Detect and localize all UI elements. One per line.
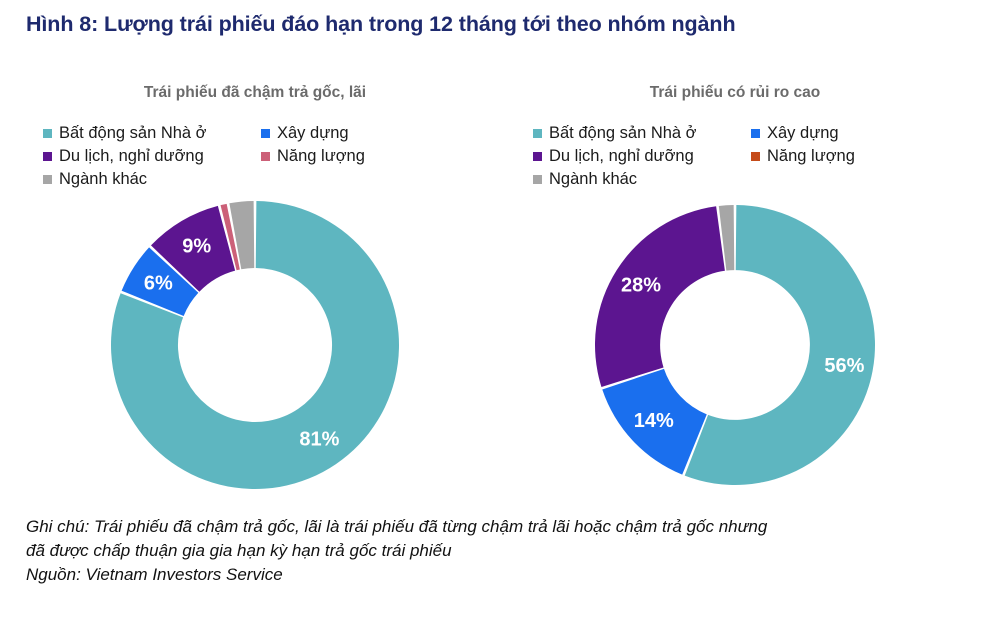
legend-label: Xây dựng [277,125,349,142]
legend-item-energy[interactable]: Năng lượng [261,148,365,165]
legend-swatch-icon [751,152,760,161]
legend-item-construction[interactable]: Xây dựng [751,125,855,142]
legend-swatch-icon [751,129,760,138]
donut-slice-label: 28% [621,274,661,296]
footnote-line-1: Ghi chú: Trái phiếu đã chậm trả gốc, lãi… [26,515,966,539]
chart-panel-defaulted-bonds: Trái phiếu đã chậm trả gốc, lãi Bất động… [15,80,495,490]
donut-slices [111,201,399,489]
legend-label: Bất động sản Nhà ở [59,125,207,142]
chart-subtitle-defaulted-bonds: Trái phiếu đã chậm trả gốc, lãi [15,84,495,102]
legend-label: Năng lượng [277,148,365,165]
page-title: Hình 8: Lượng trái phiếu đáo hạn trong 1… [26,12,736,37]
legend-item-construction[interactable]: Xây dựng [261,125,365,142]
legend-label: Ngành khác [59,171,147,188]
legend-label: Năng lượng [767,148,855,165]
donut-chart-high-risk-bonds: 56%14%28% [495,204,975,486]
donut-slice-label: 56% [824,355,864,377]
legend-label: Xây dựng [767,125,839,142]
legend-label: Du lịch, nghỉ dưỡng [59,148,204,165]
legend-swatch-icon [43,152,52,161]
legend-item-residential-real-estate[interactable]: Bất động sản Nhà ở [533,125,751,142]
legend-swatch-icon [261,129,270,138]
legend-swatch-icon [261,152,270,161]
legend-item-other-industries[interactable]: Ngành khác [43,171,261,188]
legend-swatch-icon [533,152,542,161]
legend-item-tourism-resort[interactable]: Du lịch, nghỉ dưỡng [43,148,261,165]
donut-slice-label: 6% [144,273,173,295]
donut-svg-defaulted-bonds: 81%6%9% [110,200,400,490]
donut-svg-high-risk-bonds: 56%14%28% [594,204,876,486]
donut-slice[interactable] [595,206,725,387]
footnote-line-2: đã được chấp thuận gia gia hạn kỳ hạn tr… [26,539,966,563]
donut-slices [595,205,875,485]
legend-label: Bất động sản Nhà ở [549,125,697,142]
legend-label: Du lịch, nghỉ dưỡng [549,148,694,165]
legend-swatch-icon [43,129,52,138]
donut-chart-defaulted-bonds: 81%6%9% [15,200,495,490]
donut-slice-label: 9% [182,235,211,257]
donut-slice-label: 81% [299,429,339,451]
legend-item-tourism-resort[interactable]: Du lịch, nghỉ dưỡng [533,148,751,165]
footnote: Ghi chú: Trái phiếu đã chậm trả gốc, lãi… [26,515,966,587]
chart-panel-high-risk-bonds: Trái phiếu có rủi ro cao Bất động sản Nh… [495,80,975,490]
legend-swatch-icon [43,175,52,184]
legend-swatch-icon [533,129,542,138]
donut-slice-label: 14% [634,410,674,432]
legend-swatch-icon [533,175,542,184]
legend-item-other-industries[interactable]: Ngành khác [533,171,751,188]
chart-legend-high-risk-bonds: Bất động sản Nhà ở Xây dựng Du lịch, ngh… [495,122,975,191]
legend-item-residential-real-estate[interactable]: Bất động sản Nhà ở [43,125,261,142]
chart-subtitle-high-risk-bonds: Trái phiếu có rủi ro cao [495,84,975,102]
chart-legend-defaulted-bonds: Bất động sản Nhà ở Xây dựng Du lịch, ngh… [15,122,495,191]
legend-item-energy[interactable]: Năng lượng [751,148,855,165]
legend-label: Ngành khác [549,171,637,188]
footnote-source: Nguồn: Vietnam Investors Service [26,563,966,587]
donut-slice[interactable] [229,201,254,269]
